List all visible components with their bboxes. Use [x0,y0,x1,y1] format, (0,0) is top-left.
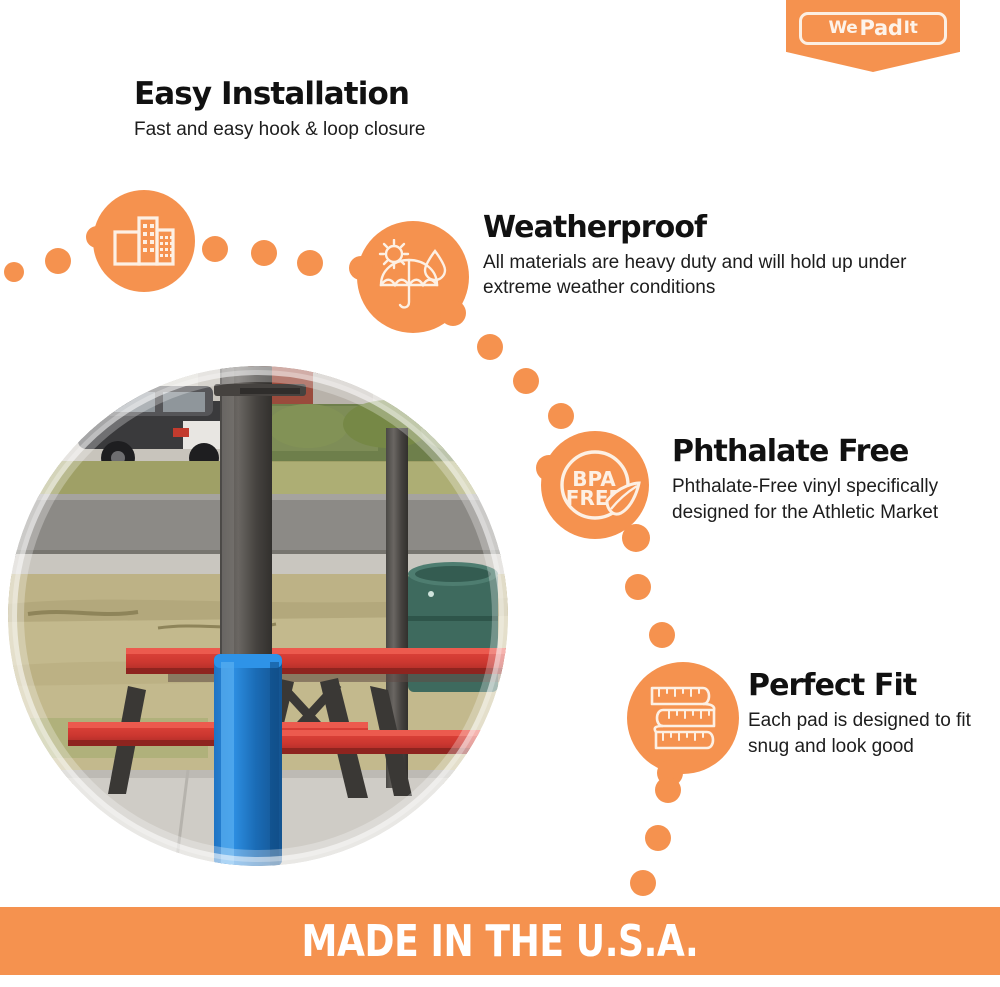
product-photo-padded-pole [8,366,508,866]
feature-block-weatherproof: Weatherproof All materials are heavy dut… [483,212,913,300]
brand-logo-text-pad: Pad [860,18,903,39]
path-dot [645,825,671,851]
feature-title-easy-installation: Easy Installation [134,78,554,111]
feature-description-easy-installation: Fast and easy hook & loop closure [134,117,554,142]
feature-title-perfect-fit: Perfect Fit [748,670,988,702]
path-dot [251,240,277,266]
brand-logo-badge: We Pad It [786,0,960,72]
brand-logo-text-it: It [904,20,918,37]
icon-blob-nub [86,226,108,248]
icon-blob-nub [349,256,373,280]
path-dot [297,250,323,276]
infographic-page: We Pad It [0,0,1000,987]
feature-description-perfect-fit: Each pad is designed to fit snug and loo… [748,708,988,762]
feature-block-perfect-fit: Perfect Fit Each pad is designed to fit … [748,670,988,761]
umbrella-sun-raindrop-icon [373,239,453,315]
path-dot [202,236,228,262]
path-dot [630,870,656,896]
brand-logo-text-we: We [828,20,857,37]
path-dot [625,574,651,600]
perfect-fit-icon-circle [627,662,739,774]
easy-installation-icon-circle [93,190,195,292]
path-dot [45,248,71,274]
feature-description-phthalate-free: Phthalate-Free vinyl specifically design… [672,474,982,528]
feature-title-weatherproof: Weatherproof [483,212,913,244]
building-icon [112,212,176,270]
feature-block-phthalate-free: Phthalate Free Phthalate-Free vinyl spec… [672,436,982,527]
icon-blob-nub [440,300,466,326]
path-dot [477,334,503,360]
path-dot [649,622,675,648]
made-in-usa-banner: MADE IN THE U.S.A. [0,907,1000,975]
path-dot [655,777,681,803]
measuring-tape-icon [641,676,725,760]
path-dot [513,368,539,394]
phthalate-free-icon-circle: BPA FREE [541,431,649,539]
icon-blob-nub [536,455,562,481]
path-dot [4,262,24,282]
icon-blob-nub [622,524,650,552]
path-dot [548,403,574,429]
made-in-usa-text: MADE IN THE U.S.A. [302,916,699,967]
brand-logo-frame: We Pad It [799,12,947,45]
feature-title-phthalate-free: Phthalate Free [672,436,982,468]
feature-description-weatherproof: All materials are heavy duty and will ho… [483,250,913,301]
bpa-free-leaf-icon: BPA FREE [549,439,641,531]
feature-block-easy-installation: Easy Installation Fast and easy hook & l… [134,78,554,142]
